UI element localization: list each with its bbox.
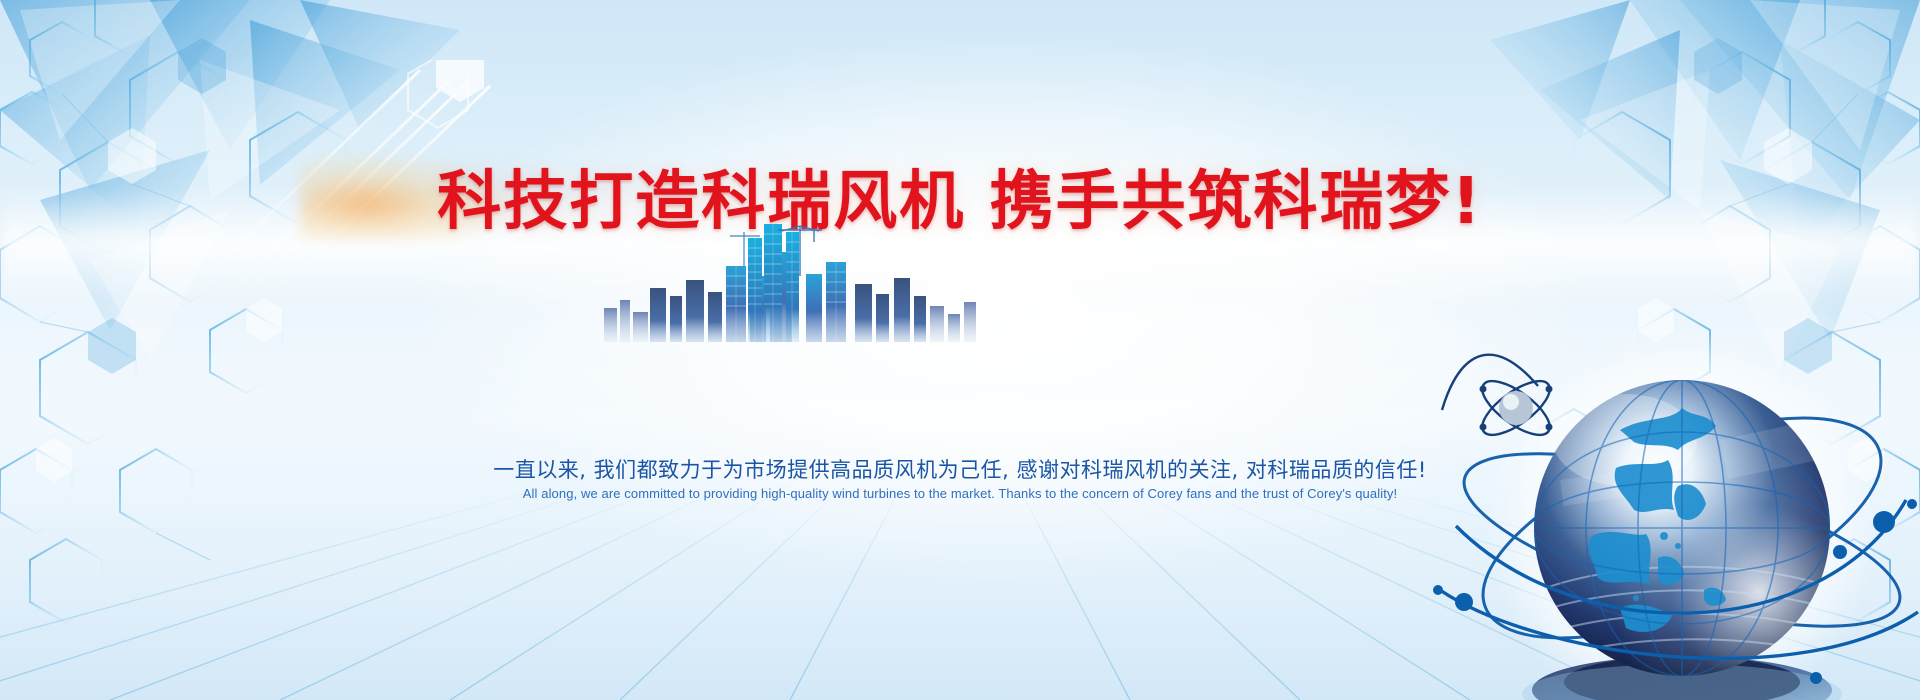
- globe-with-orbits-illustration: [1420, 290, 1920, 700]
- city-skyline-illustration: [600, 222, 980, 342]
- banner-content: 科技打造科瑞风机 携手共筑科瑞梦!: [0, 0, 1920, 700]
- hero-banner: 科技打造科瑞风机 携手共筑科瑞梦!: [0, 0, 1920, 700]
